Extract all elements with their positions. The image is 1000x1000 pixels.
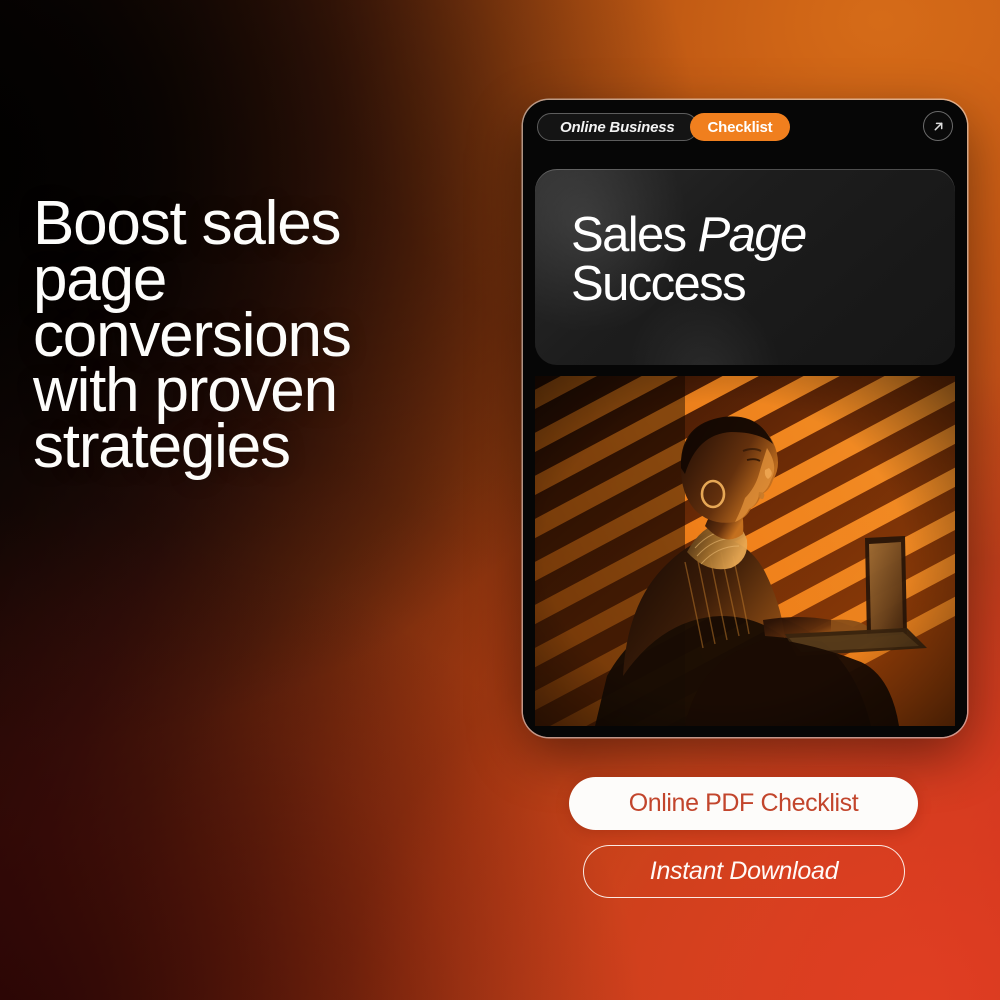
pill-bar: Online Business Checklist [537, 112, 953, 142]
pill-online-business[interactable]: Online Business [537, 113, 698, 141]
page-title: Boost sales page conversions with proven… [33, 196, 463, 475]
arrow-up-right-icon[interactable] [923, 111, 953, 141]
hero-photo-illustration [535, 376, 955, 726]
card-title-success: Success [571, 257, 745, 311]
card-title-page: Page [698, 208, 806, 262]
instant-download-button[interactable]: Instant Download [583, 845, 905, 898]
card-title-sales: Sales [571, 208, 698, 262]
promo-poster: Boost sales page conversions with proven… [0, 0, 1000, 1000]
device-mockup: Online Business Checklist Sales Page Suc… [523, 100, 967, 737]
card-title: Sales Page Success [571, 211, 935, 308]
online-pdf-checklist-button[interactable]: Online PDF Checklist [569, 777, 918, 830]
pill-checklist[interactable]: Checklist [690, 113, 791, 141]
hero-photo [535, 376, 955, 726]
title-card: Sales Page Success [535, 169, 955, 365]
device-screen: Online Business Checklist Sales Page Suc… [523, 100, 967, 737]
